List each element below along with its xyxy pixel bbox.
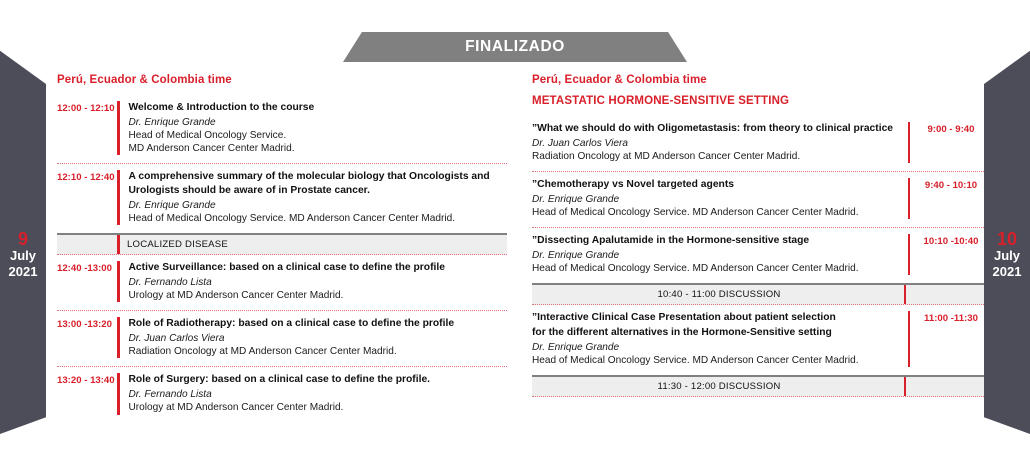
session-body: A comprehensive summary of the molecular… bbox=[120, 170, 508, 225]
band-accent-bar bbox=[117, 235, 120, 254]
session-time: 13:00 -13:20 bbox=[57, 317, 117, 358]
session-row: 13:00 -13:20 Role of Radiotherapy: based… bbox=[57, 311, 507, 367]
session-body: Role of Radiotherapy: based on a clinica… bbox=[120, 317, 508, 358]
session-row: ”Dissecting Apalutamide in the Hormone-s… bbox=[532, 228, 984, 283]
session-title: A comprehensive summary of the molecular… bbox=[129, 170, 504, 197]
session-speaker: Dr. Enrique Grande bbox=[129, 199, 504, 212]
session-affiliation-2: MD Anderson Cancer Center Madrid. bbox=[129, 142, 504, 155]
session-affiliation: Urology at MD Anderson Cancer Center Mad… bbox=[129, 401, 504, 414]
session-affiliation: Head of Medical Oncology Service. bbox=[129, 129, 504, 142]
discussion-band-1130: 11:30 - 12:00 DISCUSSION bbox=[532, 375, 984, 397]
section-title-metastatic: METASTATIC HORMONE-SENSITIVE SETTING bbox=[532, 95, 984, 107]
session-row: 13:20 - 13:40 Role of Surgery: based on … bbox=[57, 367, 507, 422]
session-title: Role of Surgery: based on a clinical cas… bbox=[129, 373, 504, 387]
session-time: 13:20 - 13:40 bbox=[57, 373, 117, 414]
date-year-right: 2021 bbox=[984, 264, 1030, 280]
band-accent-bar bbox=[904, 377, 907, 396]
session-time: 10:10 -10:40 bbox=[910, 234, 984, 275]
session-body: ”What we should do with Oligometastasis:… bbox=[532, 122, 908, 163]
session-affiliation: Head of Medical Oncology Service. MD And… bbox=[129, 212, 504, 225]
session-speaker: Dr. Enrique Grande bbox=[532, 249, 899, 262]
session-time: 9:40 - 10:10 bbox=[910, 178, 984, 219]
date-month-right: July bbox=[984, 248, 1030, 264]
session-row: ”Interactive Clinical Case Presentation … bbox=[532, 305, 984, 375]
session-affiliation: Head of Medical Oncology Service. MD And… bbox=[532, 354, 899, 367]
timezone-title-left: Perú, Ecuador & Colombia time bbox=[57, 74, 507, 86]
session-body: ”Chemotherapy vs Novel targeted agents D… bbox=[532, 178, 908, 219]
session-speaker: Dr. Fernando Lista bbox=[129, 388, 504, 401]
session-affiliation: Head of Medical Oncology Service. MD And… bbox=[532, 206, 899, 219]
session-title: ”What we should do with Oligometastasis:… bbox=[532, 122, 899, 136]
session-title: Role of Radiotherapy: based on a clinica… bbox=[129, 317, 504, 331]
session-row: 12:00 - 12:10 Welcome & Introduction to … bbox=[57, 95, 507, 164]
agenda-page: 9 July 2021 10 July 2021 FINALIZADO Perú… bbox=[0, 0, 1030, 450]
session-affiliation: Radiation Oncology at MD Anderson Cancer… bbox=[532, 150, 899, 163]
agenda-column-day-10: Perú, Ecuador & Colombia time METASTATIC… bbox=[532, 74, 984, 397]
session-body: Welcome & Introduction to the course Dr.… bbox=[120, 101, 508, 155]
band-label: 10:40 - 11:00 DISCUSSION bbox=[532, 289, 984, 300]
session-title: ”Chemotherapy vs Novel targeted agents bbox=[532, 178, 899, 192]
session-time: 9:00 - 9:40 bbox=[910, 122, 984, 163]
session-time: 12:40 -13:00 bbox=[57, 261, 117, 302]
timezone-title-right: Perú, Ecuador & Colombia time bbox=[532, 74, 984, 86]
date-banner-left: 9 July 2021 bbox=[0, 34, 46, 434]
date-banner-right: 10 July 2021 bbox=[984, 34, 1030, 434]
session-affiliation: Urology at MD Anderson Cancer Center Mad… bbox=[129, 289, 504, 302]
session-title-2: for the different alternatives in the Ho… bbox=[532, 326, 899, 340]
session-row: 12:10 - 12:40 A comprehensive summary of… bbox=[57, 164, 507, 233]
session-speaker: Dr. Enrique Grande bbox=[129, 116, 504, 129]
session-title: ”Interactive Clinical Case Presentation … bbox=[532, 311, 899, 325]
session-row: ”Chemotherapy vs Novel targeted agents D… bbox=[532, 172, 984, 228]
date-banner-left-inner: 9 July 2021 bbox=[0, 230, 46, 281]
session-time: 12:00 - 12:10 bbox=[57, 101, 117, 155]
session-body: Role of Surgery: based on a clinical cas… bbox=[120, 373, 508, 414]
discussion-band-1040: 10:40 - 11:00 DISCUSSION bbox=[532, 283, 984, 305]
date-day-left: 9 bbox=[0, 230, 46, 248]
date-banner-right-inner: 10 July 2021 bbox=[984, 230, 1030, 281]
session-speaker: Dr. Enrique Grande bbox=[532, 193, 899, 206]
session-body: ”Interactive Clinical Case Presentation … bbox=[532, 311, 908, 367]
band-label: LOCALIZED DISEASE bbox=[57, 239, 228, 250]
session-affiliation: Head of Medical Oncology Service. MD And… bbox=[532, 262, 899, 275]
session-row: ”What we should do with Oligometastasis:… bbox=[532, 116, 984, 172]
status-badge-finalizado: FINALIZADO bbox=[343, 32, 687, 62]
date-month-left: July bbox=[0, 248, 46, 264]
session-speaker: Dr. Juan Carlos Viera bbox=[532, 137, 899, 150]
session-speaker: Dr. Juan Carlos Viera bbox=[129, 332, 504, 345]
session-affiliation: Radiation Oncology at MD Anderson Cancer… bbox=[129, 345, 504, 358]
band-accent-bar bbox=[904, 285, 907, 304]
session-row: 12:40 -13:00 Active Surveillance: based … bbox=[57, 255, 507, 311]
date-year-left: 2021 bbox=[0, 264, 46, 280]
session-speaker: Dr. Fernando Lista bbox=[129, 276, 504, 289]
session-speaker: Dr. Enrique Grande bbox=[532, 341, 899, 354]
session-time: 12:10 - 12:40 bbox=[57, 170, 117, 225]
section-band-localized-disease: LOCALIZED DISEASE bbox=[57, 233, 507, 255]
session-time: 11:00 -11:30 bbox=[910, 311, 984, 367]
band-label: 11:30 - 12:00 DISCUSSION bbox=[532, 381, 984, 392]
session-body: ”Dissecting Apalutamide in the Hormone-s… bbox=[532, 234, 908, 275]
session-title: Active Surveillance: based on a clinical… bbox=[129, 261, 504, 275]
agenda-column-day-9: Perú, Ecuador & Colombia time 12:00 - 12… bbox=[57, 74, 507, 423]
date-day-right: 10 bbox=[984, 230, 1030, 248]
session-body: Active Surveillance: based on a clinical… bbox=[120, 261, 508, 302]
session-title: ”Dissecting Apalutamide in the Hormone-s… bbox=[532, 234, 899, 248]
session-title: Welcome & Introduction to the course bbox=[129, 101, 504, 115]
